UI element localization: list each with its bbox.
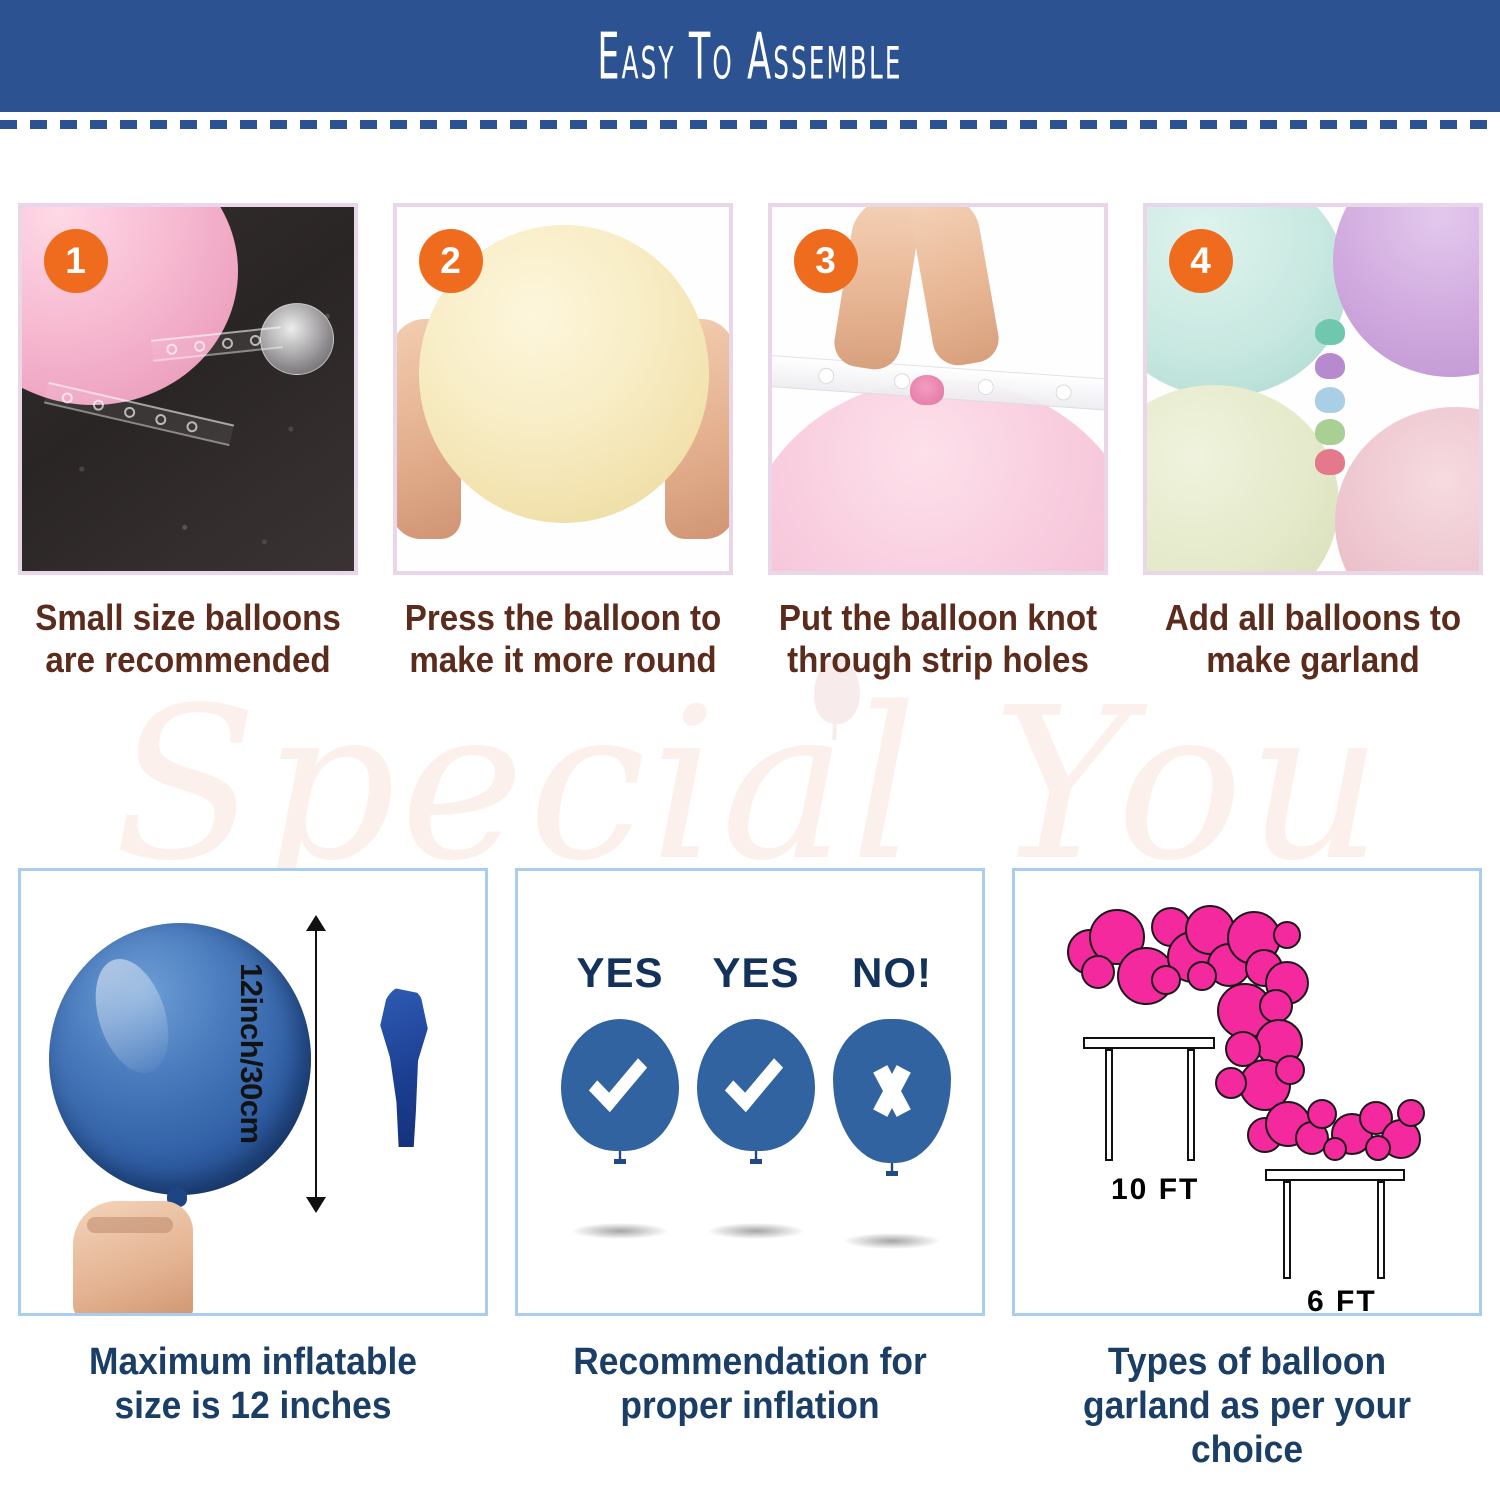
balloon-shadow bbox=[708, 1223, 804, 1239]
table-6ft-leg bbox=[1377, 1181, 1385, 1279]
inflation-option-yes-1: YES bbox=[558, 949, 682, 1151]
panel-garland-types: 10 FT 6 FT bbox=[1012, 868, 1482, 1472]
balloon-round-shape bbox=[561, 1019, 679, 1151]
balloon-knot bbox=[1315, 319, 1345, 345]
check-icon bbox=[589, 1046, 647, 1112]
step-number-badge: 3 bbox=[794, 229, 858, 293]
dimension-arrow-icon bbox=[315, 929, 317, 1199]
inflation-option-label: YES bbox=[694, 949, 818, 997]
step-2-photo: 2 bbox=[393, 203, 733, 575]
panel-1-caption-line1: Maximum inflatable bbox=[29, 1340, 477, 1384]
panel-inflation: YES YES NO! bbox=[515, 868, 985, 1472]
panel-2-caption-line2: proper inflation bbox=[526, 1384, 974, 1428]
watermark-text: Special You bbox=[114, 680, 1387, 890]
step-number-badge: 1 bbox=[44, 229, 108, 293]
table-6ft-top bbox=[1265, 1169, 1405, 1181]
step-1-caption: Small size balloons are recommended bbox=[22, 597, 353, 682]
panel-max-size-caption: Maximum inflatable size is 12 inches bbox=[29, 1340, 477, 1428]
hand-holding-balloon bbox=[73, 1201, 193, 1316]
dashed-divider bbox=[0, 120, 1500, 129]
balloon-shadow bbox=[572, 1223, 668, 1239]
inflation-option-yes-2: YES bbox=[694, 949, 818, 1151]
step-3-caption-line1: Put the balloon knot bbox=[772, 597, 1103, 639]
panel-garland-graphic: 10 FT 6 FT bbox=[1012, 868, 1482, 1316]
step-1-caption-line1: Small size balloons bbox=[22, 597, 353, 639]
balloon-knot bbox=[1315, 387, 1345, 413]
step-2: 2 Press the balloon to make it more roun… bbox=[375, 203, 750, 703]
balloon-knot bbox=[910, 375, 944, 405]
step-4-caption: Add all balloons to make garland bbox=[1147, 597, 1478, 682]
step-4: 4 Add all balloons to make garland bbox=[1125, 203, 1500, 703]
balloon-knot bbox=[1315, 353, 1345, 379]
deflated-blue-balloon bbox=[377, 987, 431, 1147]
table-10ft-leg bbox=[1105, 1049, 1113, 1161]
table-6ft-leg bbox=[1283, 1181, 1291, 1279]
balloon-knot bbox=[1315, 419, 1345, 445]
blue-balloon bbox=[49, 923, 311, 1195]
panel-inflation-graphic: YES YES NO! bbox=[515, 868, 985, 1316]
panel-1-caption-line2: size is 12 inches bbox=[29, 1384, 477, 1428]
balloon-teardrop-shape bbox=[833, 1019, 951, 1163]
panels-row: 12inch/30cm Maximum inflatable size is 1… bbox=[0, 868, 1500, 1472]
panel-garland-caption: Types of balloon garland as per your cho… bbox=[1023, 1340, 1471, 1472]
header-banner: Easy To Assemble bbox=[0, 0, 1500, 112]
check-icon bbox=[725, 1046, 783, 1112]
dimension-label: 12inch/30cm bbox=[233, 963, 269, 1144]
garland-6ft bbox=[1247, 1099, 1433, 1159]
step-3-photo: 3 bbox=[768, 203, 1108, 575]
step-2-caption-line1: Press the balloon to bbox=[397, 597, 728, 639]
step-number-badge: 2 bbox=[419, 229, 483, 293]
step-3-caption-line2: through strip holes bbox=[772, 639, 1103, 681]
step-number-badge: 4 bbox=[1169, 229, 1233, 293]
inflation-option-label: YES bbox=[558, 949, 682, 997]
step-1-photo: 1 bbox=[18, 203, 358, 575]
balloon-shadow bbox=[844, 1233, 940, 1249]
panel-2-caption-line1: Recommendation for bbox=[526, 1340, 974, 1384]
panel-3-caption-line2: garland as per your choice bbox=[1023, 1384, 1471, 1472]
table-6ft-label: 6 FT bbox=[1307, 1285, 1377, 1316]
steps-row: 1 Small size balloons are recommended 2 … bbox=[0, 203, 1500, 703]
table-10ft-label: 10 FT bbox=[1111, 1173, 1199, 1207]
table-10ft-top bbox=[1083, 1037, 1215, 1049]
panel-inflation-caption: Recommendation for proper inflation bbox=[526, 1340, 974, 1428]
panel-max-size-graphic: 12inch/30cm bbox=[18, 868, 488, 1316]
panel-max-size: 12inch/30cm Maximum inflatable size is 1… bbox=[18, 868, 488, 1472]
page-title: Easy To Assemble bbox=[597, 19, 902, 93]
step-4-caption-line1: Add all balloons to bbox=[1147, 597, 1478, 639]
balloon-round-shape bbox=[697, 1019, 815, 1151]
step-3-caption: Put the balloon knot through strip holes bbox=[772, 597, 1103, 682]
step-1: 1 Small size balloons are recommended bbox=[0, 203, 375, 703]
cross-icon bbox=[867, 1068, 917, 1114]
infographic-page: Special You Easy To Assemble bbox=[0, 0, 1500, 1500]
inflation-option-no: NO! bbox=[830, 949, 954, 1163]
inflation-option-label: NO! bbox=[830, 949, 954, 997]
step-2-caption: Press the balloon to make it more round bbox=[397, 597, 728, 682]
step-4-caption-line2: make garland bbox=[1147, 639, 1478, 681]
step-2-caption-line2: make it more round bbox=[397, 639, 728, 681]
table-10ft-leg bbox=[1187, 1049, 1195, 1161]
panel-3-caption-line1: Types of balloon bbox=[1023, 1340, 1471, 1384]
step-4-photo: 4 bbox=[1143, 203, 1483, 575]
step-3: 3 Put the balloon knot through strip hol… bbox=[750, 203, 1125, 703]
balloon-knot bbox=[1315, 449, 1345, 475]
step-1-caption-line2: are recommended bbox=[22, 639, 353, 681]
